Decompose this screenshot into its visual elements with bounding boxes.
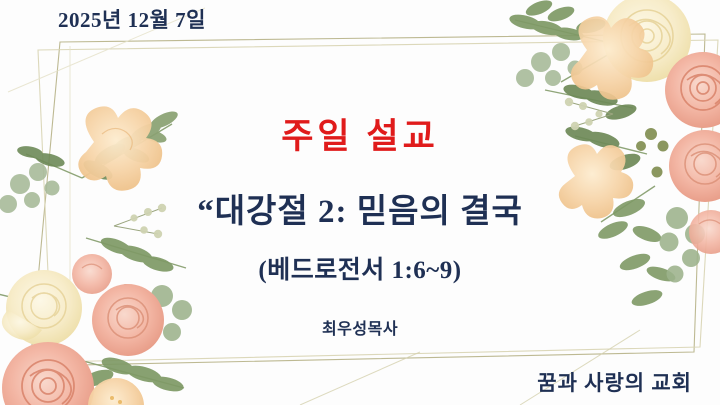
service-date: 2025년 12월 7일 xyxy=(58,4,206,34)
scripture-reference: (베드로전서 1:6~9) xyxy=(0,250,720,286)
flower-pink-rose-large xyxy=(2,342,94,405)
flower-peach-upper xyxy=(571,16,653,99)
sermon-slide: 2025년 12월 7일 주일 설교 “대강절 2: 믿음의 결국 (베드로전서… xyxy=(0,0,720,405)
preacher-name: 최우성목사 xyxy=(0,315,720,339)
sermon-title: “대강절 2: 믿음의 결국 xyxy=(0,184,720,232)
page-title: 주일 설교 xyxy=(0,108,720,159)
flower-peach-bottom xyxy=(88,378,144,405)
flower-cream-rose-top xyxy=(603,0,691,82)
church-name: 꿈과 사랑의 교회 xyxy=(537,367,692,397)
